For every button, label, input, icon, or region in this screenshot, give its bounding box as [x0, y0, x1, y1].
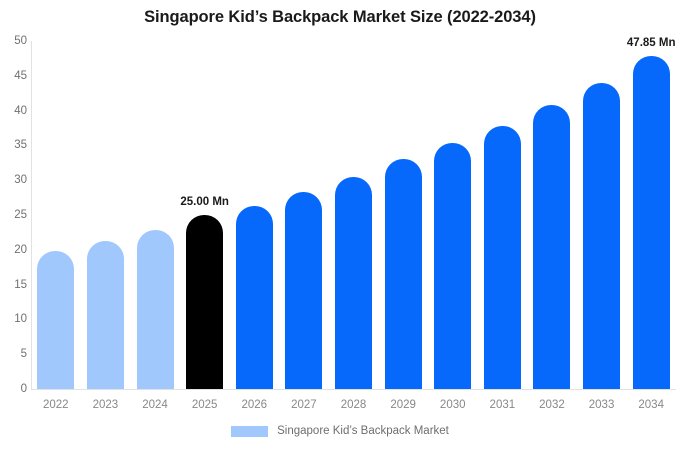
x-axis-tick-label-2033: 2033: [589, 399, 615, 411]
legend-swatch-singapore-kids-backpack-market: [231, 426, 268, 437]
y-axis-tick-label: 0: [3, 383, 27, 395]
bar-2033[interactable]: [583, 83, 620, 389]
bar-value-label-2025: 25.00 Mn: [180, 196, 229, 208]
legend-label-singapore-kids-backpack-market: Singapore Kid’s Backpack Market: [277, 425, 449, 437]
x-axis-tick-label-2025: 2025: [192, 399, 218, 411]
x-axis-tick-label-2026: 2026: [241, 399, 267, 411]
y-axis-tick-label: 10: [3, 313, 27, 325]
y-axis-tick-label: 50: [3, 35, 27, 47]
bar-2024[interactable]: [137, 230, 174, 389]
bar-2032[interactable]: [533, 105, 570, 389]
bar-2025[interactable]: [186, 215, 223, 389]
bar-2026[interactable]: [236, 206, 273, 389]
bar-2030[interactable]: [434, 143, 471, 389]
y-axis: 05101520253035404550: [0, 0, 27, 450]
bar-2022[interactable]: [37, 251, 74, 389]
bar-2029[interactable]: [385, 159, 422, 389]
x-axis-tick-label-2034: 2034: [638, 399, 664, 411]
y-axis-tick-label: 20: [3, 244, 27, 256]
x-axis-line: [31, 389, 676, 390]
x-axis-tick-label-2030: 2030: [440, 399, 466, 411]
x-axis-tick-label-2032: 2032: [539, 399, 565, 411]
y-axis-tick-label: 30: [3, 174, 27, 186]
bar-2023[interactable]: [87, 241, 124, 389]
bar-2028[interactable]: [335, 177, 372, 389]
x-axis-tick-label-2031: 2031: [490, 399, 516, 411]
chart-legend: Singapore Kid’s Backpack Market: [0, 425, 680, 437]
y-axis-tick-label: 15: [3, 279, 27, 291]
bar-2031[interactable]: [484, 126, 521, 389]
y-axis-tick-label: 35: [3, 139, 27, 151]
y-axis-tick-label: 40: [3, 105, 27, 117]
x-axis-tick-label-2028: 2028: [341, 399, 367, 411]
bar-value-label-2034: 47.85 Mn: [627, 37, 676, 49]
y-axis-tick-label: 25: [3, 209, 27, 221]
x-axis-tick-label-2022: 2022: [43, 399, 69, 411]
bar-2027[interactable]: [285, 192, 322, 389]
x-axis-tick-label-2029: 2029: [390, 399, 416, 411]
y-axis-tick-label: 5: [3, 348, 27, 360]
x-axis-tick-label-2024: 2024: [142, 399, 168, 411]
plot-area: [31, 41, 676, 389]
bar-2034[interactable]: [633, 56, 670, 389]
y-axis-tick-label: 45: [3, 70, 27, 82]
x-axis-tick-label-2023: 2023: [93, 399, 119, 411]
bar-chart: Singapore Kid’s Backpack Market Size (20…: [0, 0, 680, 450]
chart-title: Singapore Kid’s Backpack Market Size (20…: [0, 8, 680, 27]
x-axis-tick-label-2027: 2027: [291, 399, 317, 411]
